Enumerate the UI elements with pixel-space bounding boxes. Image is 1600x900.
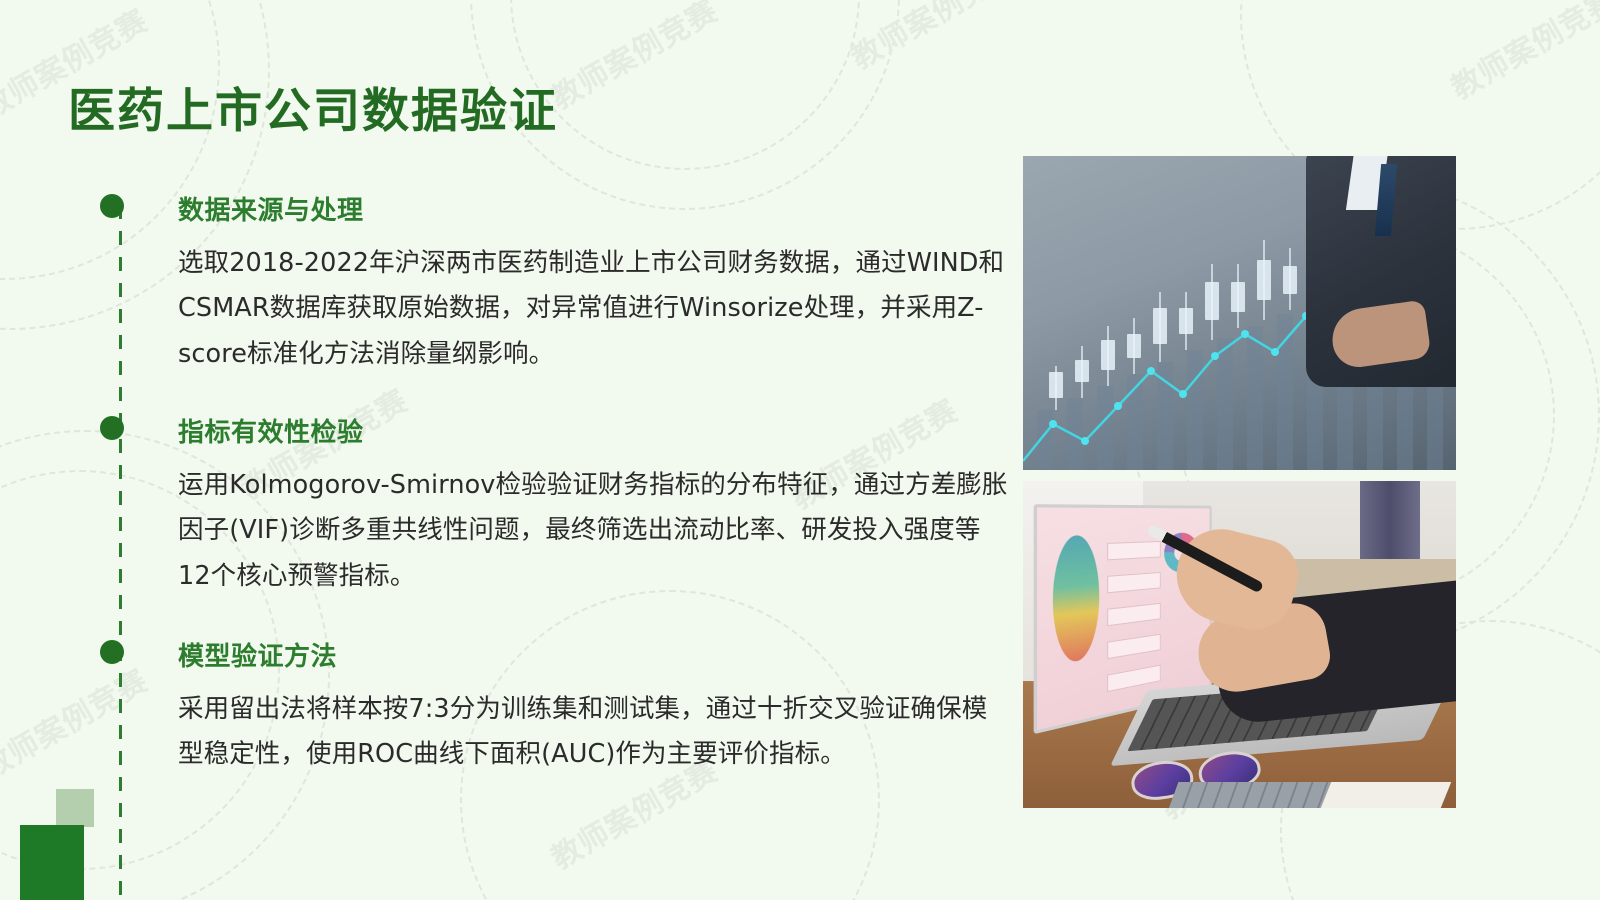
section-heading: 模型验证方法 (178, 636, 1010, 673)
decor-square-light (56, 789, 94, 827)
section-heading: 指标有效性检验 (178, 412, 1010, 449)
decor-square-dark (20, 825, 84, 900)
bullet-dot-icon (100, 416, 124, 440)
list-item: 指标有效性检验 运用Kolmogorov-Smirnov检验验证财务指标的分布特… (100, 412, 1010, 599)
page-title: 医药上市公司数据验证 (68, 72, 558, 141)
watermark-text: 教师案例竞赛 (541, 0, 724, 118)
decor-ring (510, 0, 860, 170)
photo-chart-box (1107, 634, 1160, 659)
section-heading: 数据来源与处理 (178, 190, 1010, 227)
photo-analyst-laptop (1023, 481, 1456, 808)
watermark-text: 教师案例竞赛 (841, 0, 1024, 78)
watermark-text: 教师案例竞赛 (1441, 0, 1600, 108)
section-body: 采用留出法将样本按7:3分为训练集和测试集，通过十折交叉验证确保模型稳定性，使用… (178, 687, 1010, 778)
list-item: 模型验证方法 采用留出法将样本按7:3分为训练集和测试集，通过十折交叉验证确保模… (100, 636, 1010, 778)
photo-chart-box (1107, 572, 1160, 593)
photo-chart-box (1107, 665, 1160, 693)
photo-chart-box (1107, 541, 1160, 560)
bullet-dot-icon (100, 194, 124, 218)
section-body: 选取2018-2022年沪深两市医药制造业上市公司财务数据，通过WIND和CSM… (178, 241, 1010, 377)
photo-calculator (1168, 782, 1339, 808)
section-body: 运用Kolmogorov-Smirnov检验验证财务指标的分布特征，通过方差膨胀… (178, 463, 1010, 599)
list-item: 数据来源与处理 选取2018-2022年沪深两市医药制造业上市公司财务数据，通过… (100, 190, 1010, 377)
photo-finance-chart-businessman (1023, 156, 1456, 470)
photo-chart-oval (1053, 535, 1099, 665)
photo-paper (1321, 782, 1452, 808)
photo-chart-box (1107, 603, 1160, 626)
bullet-dot-icon (100, 640, 124, 664)
